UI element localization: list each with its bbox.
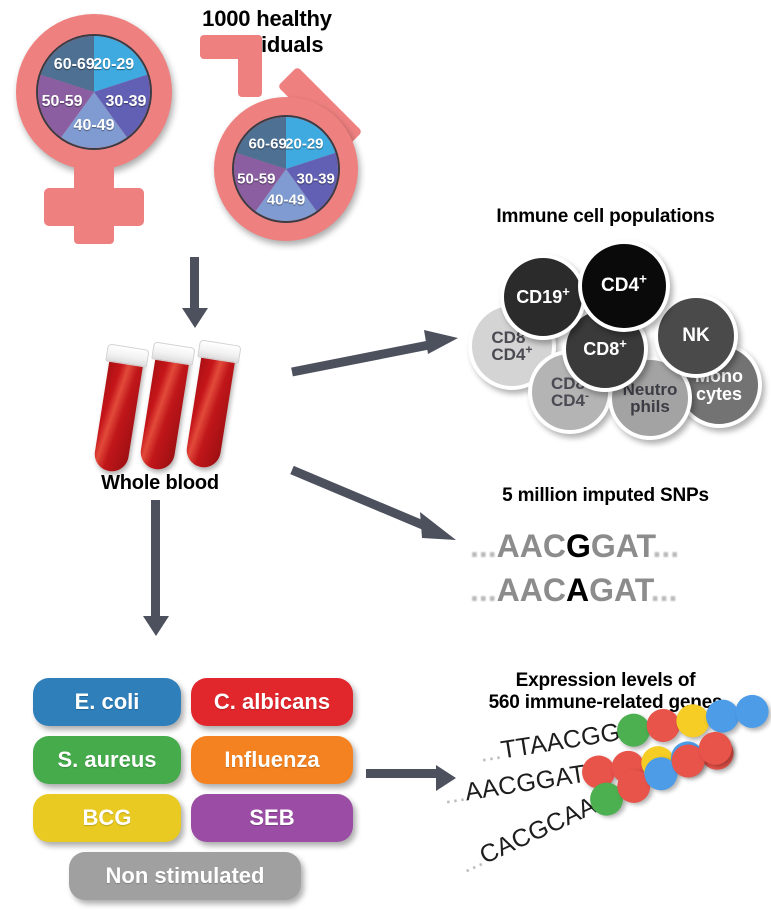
snp-suffix: GAT — [591, 528, 653, 564]
age-group-label-50-59: 50-59 — [237, 170, 275, 187]
stimulus-label: Non stimulated — [106, 863, 265, 889]
blood-tube-body — [138, 352, 190, 472]
snp-suffix: GAT — [589, 572, 651, 608]
age-group-label-30-39: 30-39 — [105, 93, 146, 111]
snp-prefix: AAC — [497, 572, 566, 608]
age-group-label-40-49: 40-49 — [74, 117, 115, 135]
stimulus-label: E. coli — [75, 689, 140, 715]
snp-prefix: AAC — [497, 528, 566, 564]
snp-tail-ellipsis: ... — [653, 528, 680, 564]
whole-blood-label: Whole blood — [60, 472, 260, 496]
snp-tail-ellipsis: ... — [651, 572, 678, 608]
snp-sequence-row: ...AACGGAT... — [470, 528, 679, 565]
snps-section-title: 5 million imputed SNPs — [440, 485, 771, 507]
female-gender-symbol: 20-2930-3940-4950-5960-69 — [8, 10, 188, 250]
stimulus-label: SEB — [249, 805, 294, 831]
immune-section-title: Immune cell populations — [440, 206, 771, 228]
arrow-blood-to-immune — [290, 320, 470, 390]
snp-variant-allele: G — [566, 528, 591, 564]
expression-bead — [733, 693, 771, 731]
age-group-label-20-29: 20-29 — [93, 56, 134, 74]
strand-lead-ellipsis: ... — [442, 779, 468, 810]
immune-cell-label: NK — [682, 326, 709, 345]
immune-cell-nk: NK — [654, 294, 738, 378]
age-group-label-20-29: 20-29 — [285, 135, 323, 152]
female-symbol-crossbar — [44, 188, 144, 226]
stimuli-grid: E. coliC. albicansS. aureusInfluenzaBCGS… — [33, 678, 353, 898]
stimulus-label: Influenza — [224, 747, 319, 773]
blood-tube-body — [92, 354, 144, 474]
blood-tubes-group — [112, 340, 292, 480]
stimulus-pill-c-albicans[interactable]: C. albicans — [191, 678, 353, 726]
cohort-title-line1: 1000 healthy — [172, 6, 362, 32]
stimulus-pill-non-stimulated[interactable]: Non stimulated — [69, 852, 301, 900]
stimulus-pill-bcg[interactable]: BCG — [33, 794, 181, 842]
snp-sequences-group: ...AACGGAT......AACAGAT... — [470, 528, 760, 618]
age-group-label-60-69: 60-69 — [54, 56, 95, 74]
immune-cell-populations-group: CD19+CD4+NKCD8+CD4+CD8+MonocytesCD8-CD4-… — [468, 240, 768, 430]
snp-sequence-row: ...AACAGAT... — [470, 572, 677, 609]
blood-tube-body — [184, 350, 236, 470]
stimulus-pill-s-aureus[interactable]: S. aureus — [33, 736, 181, 784]
immune-cell-cd4: CD4+ — [578, 240, 670, 332]
male-symbol-arrowhead — [200, 35, 262, 97]
snp-lead-ellipsis: ... — [470, 572, 497, 608]
immune-cell-cd19: CD19+ — [500, 254, 586, 340]
age-group-label-60-69: 60-69 — [248, 135, 286, 152]
expression-title-line1: Expression levels of — [440, 670, 771, 692]
stimulus-label: S. aureus — [57, 747, 156, 773]
immune-cell-label: Neutrophils — [623, 381, 678, 416]
snp-lead-ellipsis: ... — [470, 528, 497, 564]
stimulus-label: C. albicans — [214, 689, 330, 715]
immune-cell-label: CD19+ — [516, 288, 570, 306]
age-distribution-pie-female: 20-2930-3940-4950-5960-69 — [36, 34, 152, 150]
age-group-label-40-49: 40-49 — [267, 192, 305, 209]
stimulus-pill-e-coli[interactable]: E. coli — [33, 678, 181, 726]
age-distribution-pie-male: 20-2930-3940-4950-5960-69 — [232, 115, 340, 223]
stimulus-label: BCG — [83, 805, 132, 831]
stimulus-pill-influenza[interactable]: Influenza — [191, 736, 353, 784]
stimulus-pill-seb[interactable]: SEB — [191, 794, 353, 842]
expression-strands-group: ...TTAACGG...AACGGAT...CACGCAA — [440, 718, 771, 918]
snp-variant-allele: A — [566, 572, 589, 608]
strand-lead-ellipsis: ... — [478, 737, 504, 768]
immune-cell-label: CD4+ — [601, 276, 647, 295]
strand-lead-ellipsis: ... — [456, 844, 487, 878]
male-gender-symbol: 20-2930-3940-4950-5960-69 — [200, 35, 415, 245]
age-group-label-30-39: 30-39 — [296, 170, 334, 187]
immune-cell-label: CD8+ — [583, 340, 627, 358]
age-group-label-50-59: 50-59 — [42, 93, 83, 111]
